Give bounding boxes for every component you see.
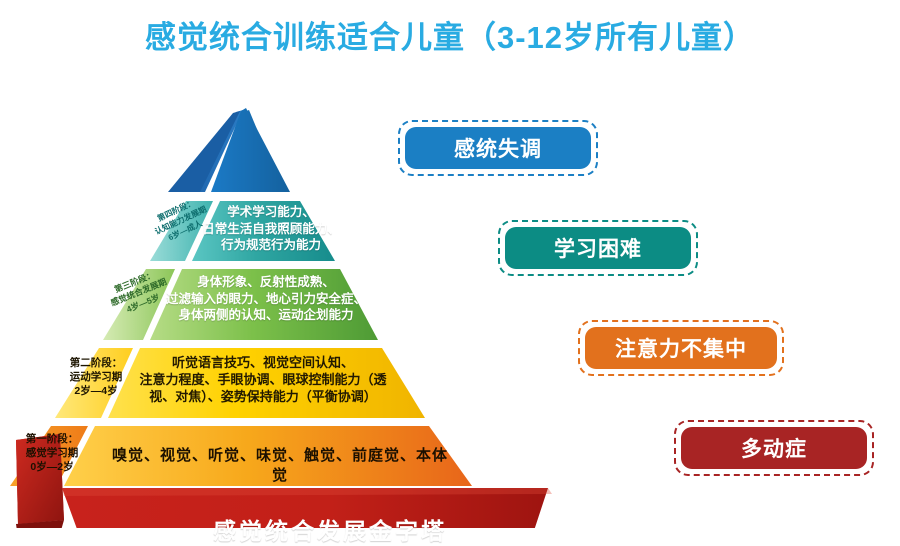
callout-box-3[interactable]: 多动症 xyxy=(674,420,874,476)
callout-box-0[interactable]: 感统失调 xyxy=(398,120,598,176)
pyramid-level-2 xyxy=(55,348,425,418)
pyramid-level-1 xyxy=(10,426,472,486)
callout-box-2[interactable]: 注意力不集中 xyxy=(578,320,784,376)
callout-label-1: 学习困难 xyxy=(505,227,691,269)
callout-box-1[interactable]: 学习困难 xyxy=(498,220,698,276)
callout-label-3: 多动症 xyxy=(681,427,867,469)
page-title: 感觉统合训练适合儿童（3-12岁所有儿童） xyxy=(0,12,900,57)
pyramid-level-3 xyxy=(103,269,378,340)
callout-label-2: 注意力不集中 xyxy=(585,327,777,369)
poster-canvas: 感觉统合训练适合儿童（3-12岁所有儿童） xyxy=(0,0,900,528)
pyramid-level-4 xyxy=(150,201,335,261)
pyramid-apex xyxy=(97,108,290,193)
callout-label-0: 感统失调 xyxy=(405,127,591,169)
